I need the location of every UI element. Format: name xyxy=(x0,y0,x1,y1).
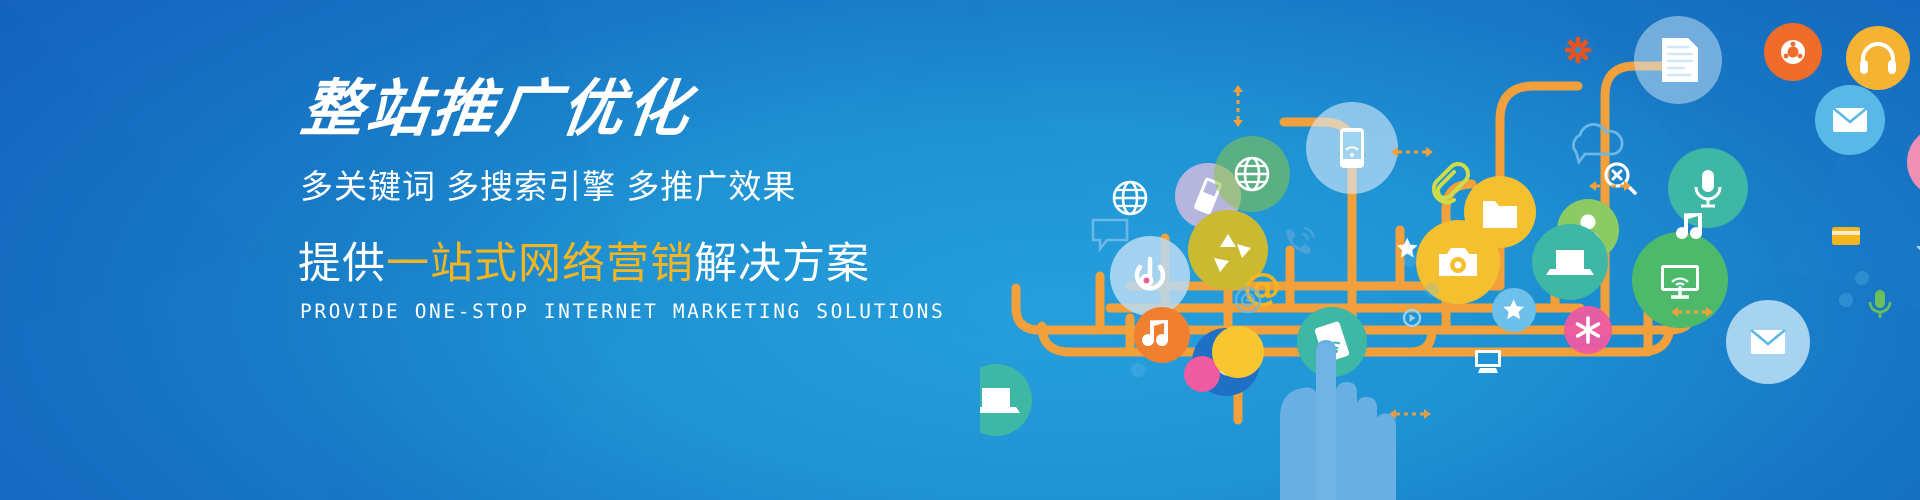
pointing-hand-icon xyxy=(1228,300,1418,500)
icon-node-headphones xyxy=(1846,26,1910,90)
icon-node-envelope-top xyxy=(1815,85,1885,155)
promo-banner: @ xyxy=(0,0,1920,500)
icon-node-mic-green xyxy=(1870,290,1890,318)
icon-node-card xyxy=(1832,227,1860,245)
page-title: 整站推广优化 xyxy=(298,78,1064,140)
icon-node-search-remove xyxy=(1606,164,1635,193)
icon-node-microphone xyxy=(1668,148,1748,228)
solution-highlight: 一站式网络营销 xyxy=(386,240,694,288)
icon-node-laptop-small xyxy=(1475,350,1501,373)
icon-node-gear xyxy=(1560,32,1597,69)
icon-node-hourglass xyxy=(1907,127,1920,197)
solution-suffix: 解决方案 xyxy=(694,240,870,288)
icon-node-laptop-teal xyxy=(1532,224,1608,300)
subtitle: 多关键词 多搜索引擎 多推广效果 xyxy=(300,170,1056,203)
icon-node-star-outline xyxy=(1916,236,1920,263)
icon-tree-illustration: @ xyxy=(980,0,1920,500)
icon-node-document xyxy=(1634,16,1722,104)
icon-node-laptop-left xyxy=(980,364,1032,436)
icon-node-paperclip xyxy=(1434,164,1468,202)
english-tagline: PROVIDE ONE-STOP INTERNET MARKETING SOLU… xyxy=(300,300,1056,323)
copy-block: 整站推广优化 多关键词 多搜索引擎 多推广效果 提供一站式网络营销解决方案 PR… xyxy=(296,78,1056,323)
icon-node-cloudchat xyxy=(1574,124,1623,162)
dashed-connector xyxy=(1391,147,1433,157)
icon-node-mail-open xyxy=(1726,300,1810,384)
icon-node-cog xyxy=(1764,23,1822,81)
icon-node-smartphone xyxy=(1306,102,1398,194)
icon-node-monitor-wifi xyxy=(1632,232,1728,328)
solution-line: 提供一站式网络营销解决方案 xyxy=(298,243,1056,286)
icon-node-at-circle xyxy=(1242,178,1298,234)
dashed-connector xyxy=(1233,85,1243,127)
solution-prefix: 提供 xyxy=(298,240,386,288)
icon-node-globe-outline xyxy=(1114,182,1146,214)
icon-node-asterisk xyxy=(1564,306,1612,354)
icon-node-music-note xyxy=(1134,307,1190,363)
icon-node-chat-outline xyxy=(1093,220,1127,249)
